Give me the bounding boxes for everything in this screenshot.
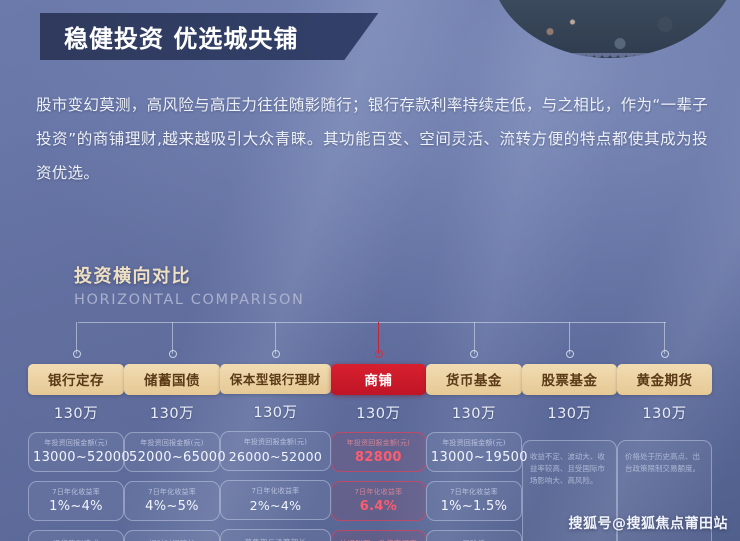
principal-amount: 130万 bbox=[642, 402, 686, 423]
annualized-rate-label: 7日年化收益率 bbox=[336, 487, 421, 497]
column-title-pill[interactable]: 储蓄国债 bbox=[124, 364, 220, 395]
aerial-photo-fragment bbox=[490, 0, 740, 58]
annual-return-card: 年投资回报金额(元)13000~52000 bbox=[28, 432, 124, 472]
timeline-tick bbox=[474, 322, 475, 354]
timeline-tick bbox=[664, 322, 665, 354]
comparison-column: 保本型银行理财130万年投资回报金额(元)26000~520007日年化收益率2… bbox=[220, 364, 331, 541]
remark-card: 抗通胀强、升值空间高 低风险、高抗通胀能力 bbox=[331, 530, 426, 541]
comparison-column: 储蓄国债130万年投资回报金额(元)52000~650007日年化收益率4%~5… bbox=[124, 364, 220, 541]
remark-text: 募集期与清算期长 实际收益偏低 bbox=[245, 537, 307, 541]
timeline-tick bbox=[172, 322, 173, 354]
page-title: 稳健投资 优选城央铺 bbox=[64, 19, 298, 54]
header-banner: 稳健投资 优选城央铺 bbox=[40, 13, 378, 60]
annualized-rate-label: 7日年化收益率 bbox=[225, 486, 326, 496]
principal-amount: 130万 bbox=[547, 402, 591, 423]
annualized-rate-value: 2%~4% bbox=[225, 498, 326, 513]
timeline-tick bbox=[76, 322, 77, 354]
timeline-tick bbox=[569, 322, 570, 354]
comparison-column: 银行定存130万年投资回报金额(元)13000~520007日年化收益率1%~4… bbox=[28, 364, 124, 541]
timeline-dot bbox=[661, 350, 669, 358]
poster-root: 稳健投资 优选城央铺 股市变幻莫测，高风险与高压力往往随影随行；银行存款利率持续… bbox=[0, 0, 740, 541]
annual-return-value: 13000~19500 bbox=[431, 450, 517, 465]
annual-return-card: 年投资回报金额(元)13000~19500 bbox=[426, 432, 522, 472]
remark-card: 相对时间较长 变现不灵活 bbox=[124, 530, 220, 541]
section-heading: 投资横向对比 HORIZONTAL COMPARISON bbox=[74, 262, 304, 308]
principal-amount: 130万 bbox=[54, 402, 98, 423]
timeline-tick bbox=[275, 322, 276, 354]
annualized-rate-card: 7日年化收益率6.4% bbox=[331, 481, 426, 521]
timeline-rail bbox=[78, 322, 666, 323]
timeline-dot bbox=[566, 350, 574, 358]
annual-return-value: 26000~52000 bbox=[225, 449, 326, 464]
column-title-pill[interactable]: 黄金期货 bbox=[617, 364, 712, 395]
section-title-cn: 投资横向对比 bbox=[74, 262, 304, 288]
watermark: 搜狐号@搜狐焦点莆田站 bbox=[569, 513, 729, 533]
annualized-rate-card: 7日年化收益率4%~5% bbox=[124, 481, 220, 521]
principal-amount: 130万 bbox=[253, 401, 297, 422]
column-title-pill[interactable]: 银行定存 bbox=[28, 364, 124, 395]
timeline-dot bbox=[73, 350, 81, 358]
annual-return-card: 年投资回报金额(元)26000~52000 bbox=[220, 431, 331, 471]
annual-return-label: 年投资回报金额(元) bbox=[336, 438, 421, 448]
column-title-pill[interactable]: 商铺 bbox=[331, 364, 426, 395]
column-title-pill[interactable]: 保本型银行理财 bbox=[220, 364, 331, 394]
timeline-dot bbox=[169, 350, 177, 358]
annual-return-value: 13000~52000 bbox=[33, 450, 119, 465]
timeline-dot bbox=[272, 350, 280, 358]
column-title-pill[interactable]: 股票基金 bbox=[522, 364, 617, 395]
annual-return-label: 年投资回报金额(元) bbox=[431, 438, 517, 448]
column-title-pill[interactable]: 货币基金 bbox=[426, 364, 522, 395]
annual-return-card: 年投资回报金额(元)82800 bbox=[331, 432, 426, 472]
comparison-column: 商铺130万年投资回报金额(元)828007日年化收益率6.4%抗通胀强、升值空… bbox=[331, 364, 426, 541]
annualized-rate-value: 6.4% bbox=[336, 499, 421, 514]
annualized-rate-value: 1%~4% bbox=[33, 499, 119, 514]
comparison-column: 货币基金130万年投资回报金额(元)13000~195007日年化收益率1%~1… bbox=[426, 364, 522, 541]
principal-amount: 130万 bbox=[356, 402, 400, 423]
remark-text: 价格处于历史高点、出台政策限制交易额度。 bbox=[625, 451, 704, 475]
intro-paragraph: 股市变幻莫测，高风险与高压力往往随影随行；银行存款利率持续走低，与之相比，作为“… bbox=[36, 88, 708, 190]
annualized-rate-label: 7日年化收益率 bbox=[33, 487, 119, 497]
annualized-rate-value: 1%~1.5% bbox=[431, 499, 517, 514]
annualized-rate-label: 7日年化收益率 bbox=[431, 487, 517, 497]
annualized-rate-card: 7日年化收益率1%~1.5% bbox=[426, 481, 522, 521]
remark-text: 收益不定、波动大、收益率较高、且受国际市场影响大、高风险。 bbox=[530, 451, 609, 487]
annual-return-value: 52000~65000 bbox=[129, 450, 215, 465]
section-title-en: HORIZONTAL COMPARISON bbox=[74, 292, 304, 308]
annual-return-label: 年投资回报金额(元) bbox=[129, 438, 215, 448]
timeline-dot bbox=[470, 350, 478, 358]
timeline-dot bbox=[375, 350, 383, 358]
annualized-rate-card: 7日年化收益率1%~4% bbox=[28, 481, 124, 521]
annual-return-label: 年投资回报金额(元) bbox=[225, 437, 326, 447]
annual-return-label: 年投资回报金额(元) bbox=[33, 438, 119, 448]
annual-return-card: 年投资回报金额(元)52000~65000 bbox=[124, 432, 220, 472]
principal-amount: 130万 bbox=[150, 402, 194, 423]
annualized-rate-label: 7日年化收益率 bbox=[129, 487, 215, 497]
annual-return-value: 82800 bbox=[336, 450, 421, 465]
annualized-rate-value: 4%~5% bbox=[129, 499, 215, 514]
remark-card: 募集期与清算期长 实际收益偏低 bbox=[220, 529, 331, 541]
principal-amount: 130万 bbox=[452, 402, 496, 423]
annualized-rate-card: 7日年化收益率2%~4% bbox=[220, 480, 331, 520]
remark-card: 风险低 收益率低 bbox=[426, 530, 522, 541]
timeline-tick bbox=[378, 322, 379, 354]
remark-card: 通货膨胀造成 的金额相对值 bbox=[28, 530, 124, 541]
